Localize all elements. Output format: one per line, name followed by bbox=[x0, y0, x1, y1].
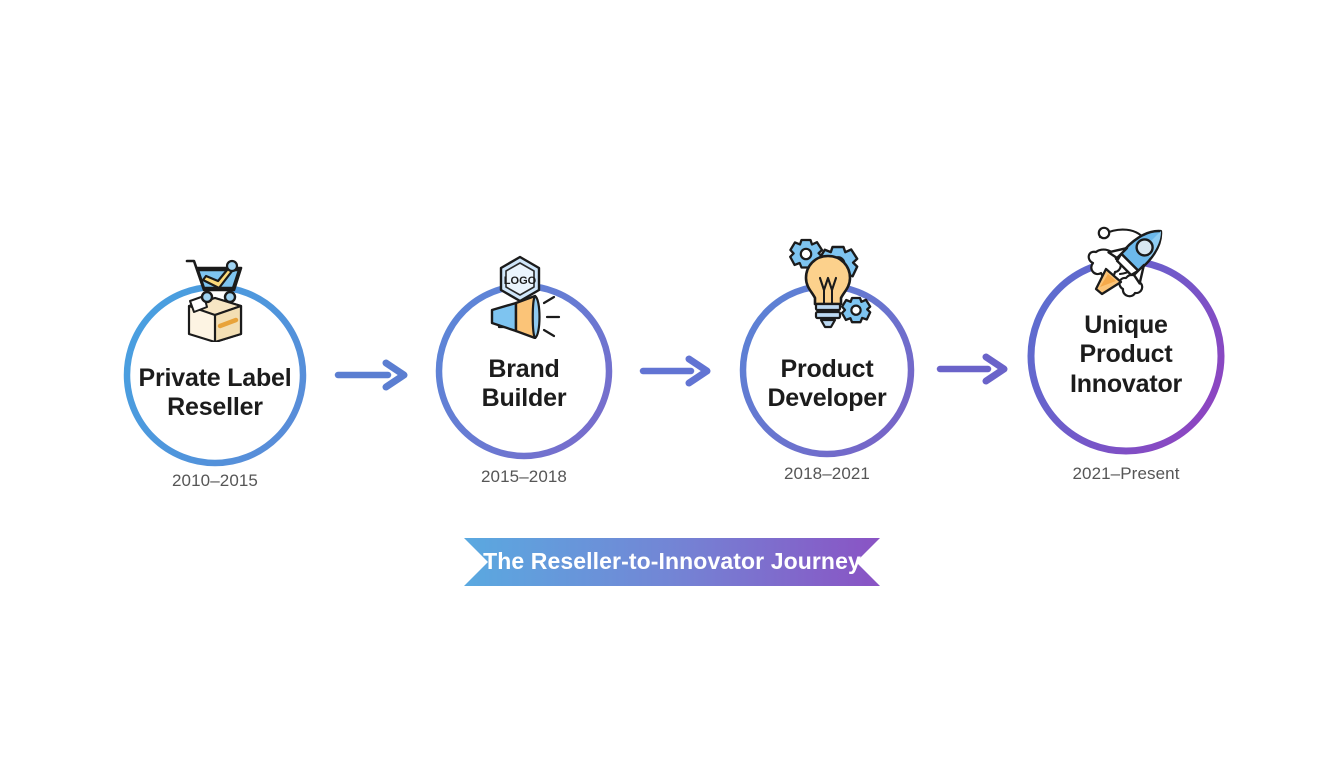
journey-banner[interactable]: The Reseller-to-Innovator Journey bbox=[464, 538, 880, 586]
stage-node-brand-builder[interactable]: LOGO Brand Builder 2015–2018 bbox=[434, 281, 614, 461]
stage-node-product-developer[interactable]: Product Developer 2018–2021 bbox=[738, 281, 916, 459]
arrow-3-icon bbox=[938, 352, 1010, 386]
stage-period-2: 2015–2018 bbox=[434, 467, 614, 487]
lightbulb-gears-icon bbox=[780, 234, 876, 340]
logo-megaphone-icon: LOGO bbox=[482, 255, 568, 339]
arrow-1-icon bbox=[336, 358, 410, 392]
infographic-canvas: Private Label Reseller 2010–2015 bbox=[0, 0, 1344, 768]
stage-period-4: 2021–Present bbox=[1026, 464, 1226, 484]
shopping-cart-box-icon bbox=[174, 254, 256, 342]
stage-period-1: 2010–2015 bbox=[122, 471, 308, 491]
svg-text:LOGO: LOGO bbox=[504, 275, 537, 287]
stage-node-unique-product-innovator[interactable]: Unique Product Innovator 2021–Present bbox=[1026, 256, 1226, 456]
stage-node-private-label-reseller[interactable]: Private Label Reseller 2010–2015 bbox=[122, 282, 308, 468]
arrow-2-icon bbox=[641, 354, 713, 388]
rocket-icon bbox=[1074, 216, 1174, 312]
stage-period-3: 2018–2021 bbox=[738, 464, 916, 484]
